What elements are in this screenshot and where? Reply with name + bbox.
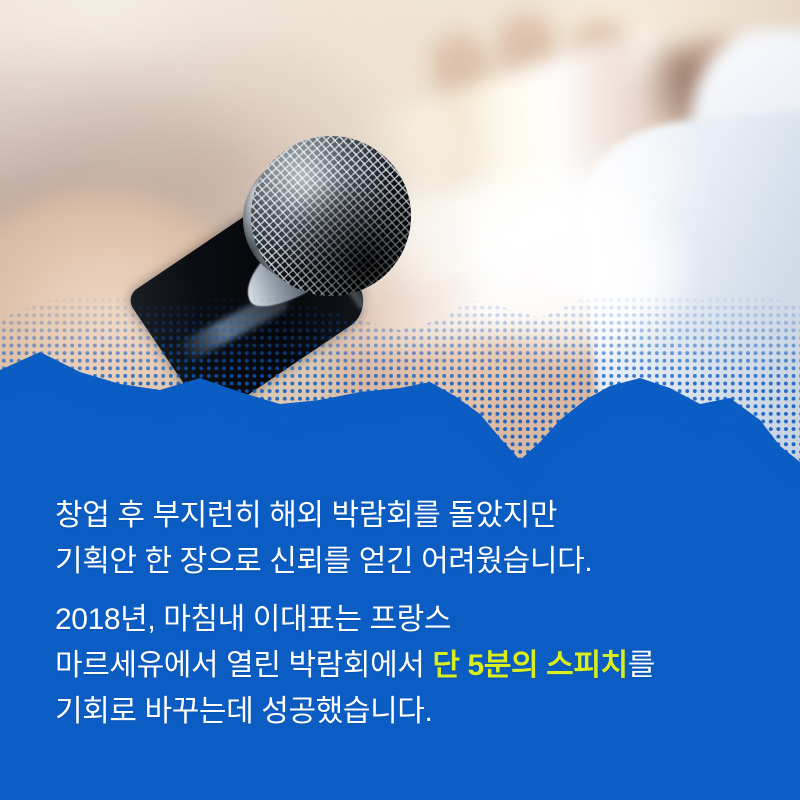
paragraph-2: 2018년, 마침내 이대표는 프랑스 마르세유에서 열린 박람회에서 단 5분… [55, 597, 755, 735]
paragraph-2-line-1: 2018년, 마침내 이대표는 프랑스 [55, 597, 755, 643]
paragraph-2-line-2: 마르세유에서 열린 박람회에서 단 5분의 스피치를 [55, 643, 755, 689]
paragraph-1-line-2: 기획안 한 장으로 신뢰를 얻긴 어려웠습니다. [55, 539, 755, 585]
paragraph-2-line-2-pre: 마르세유에서 열린 박람회에서 [55, 649, 432, 682]
promo-card: 창업 후 부지런히 해외 박람회를 돌았지만 기획안 한 장으로 신뢰를 얻긴 … [0, 0, 800, 800]
paragraph-2-line-2-post: 를 [628, 649, 655, 682]
paragraph-2-line-3: 기회로 바꾸는데 성공했습니다. [55, 689, 755, 735]
paragraph-1: 창업 후 부지런히 해외 박람회를 돌았지만 기획안 한 장으로 신뢰를 얻긴 … [55, 493, 755, 585]
body-copy: 창업 후 부지런히 해외 박람회를 돌았지만 기획안 한 장으로 신뢰를 얻긴 … [55, 493, 755, 735]
highlighted-phrase: 단 5분의 스피치 [432, 649, 627, 682]
paragraph-1-line-1: 창업 후 부지런히 해외 박람회를 돌았지만 [55, 493, 755, 539]
